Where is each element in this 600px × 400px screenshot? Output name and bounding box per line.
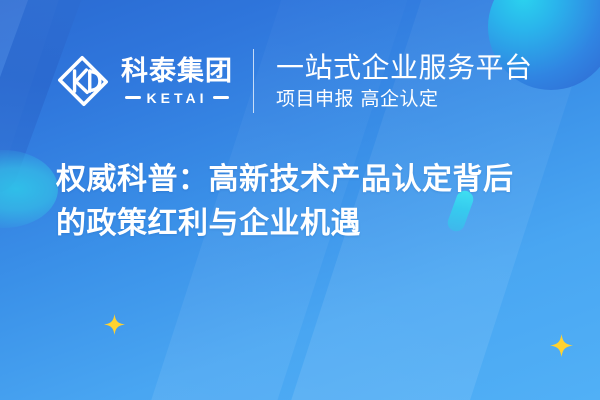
brand-name-en-row: KETAI	[125, 91, 230, 105]
brand-wordmark: 科泰集团 KETAI	[121, 58, 233, 105]
banner-header: 科泰集团 KETAI 一站式企业服务平台 项目申报 高企认定	[0, 36, 600, 126]
promo-banner: 科泰集团 KETAI 一站式企业服务平台 项目申报 高企认定 权威科普：高新技术…	[0, 0, 600, 400]
tagline-sub: 项目申报 高企认定	[276, 89, 533, 110]
sparkle-star-icon	[104, 314, 125, 335]
ketai-diamond-monogram-icon	[56, 54, 110, 108]
wordmark-rule-left	[125, 96, 141, 99]
tagline-block: 一站式企业服务平台 项目申报 高企认定	[276, 52, 533, 110]
brand-name-cn: 科泰集团	[121, 58, 233, 85]
glow-decoration	[0, 150, 58, 228]
brand-logo[interactable]: 科泰集团 KETAI	[56, 54, 233, 108]
page-title: 权威科普：高新技术产品认定背后 的政策红利与企业机遇	[56, 158, 556, 245]
wordmark-rule-right	[213, 96, 229, 99]
page-title-line-1: 权威科普：高新技术产品认定背后	[56, 158, 556, 202]
brand-name-en: KETAI	[147, 91, 208, 105]
sparkle-star-icon	[550, 334, 573, 357]
page-title-line-2: 的政策红利与企业机遇	[56, 202, 556, 246]
tagline-main: 一站式企业服务平台	[276, 52, 533, 83]
vertical-divider	[253, 49, 254, 113]
